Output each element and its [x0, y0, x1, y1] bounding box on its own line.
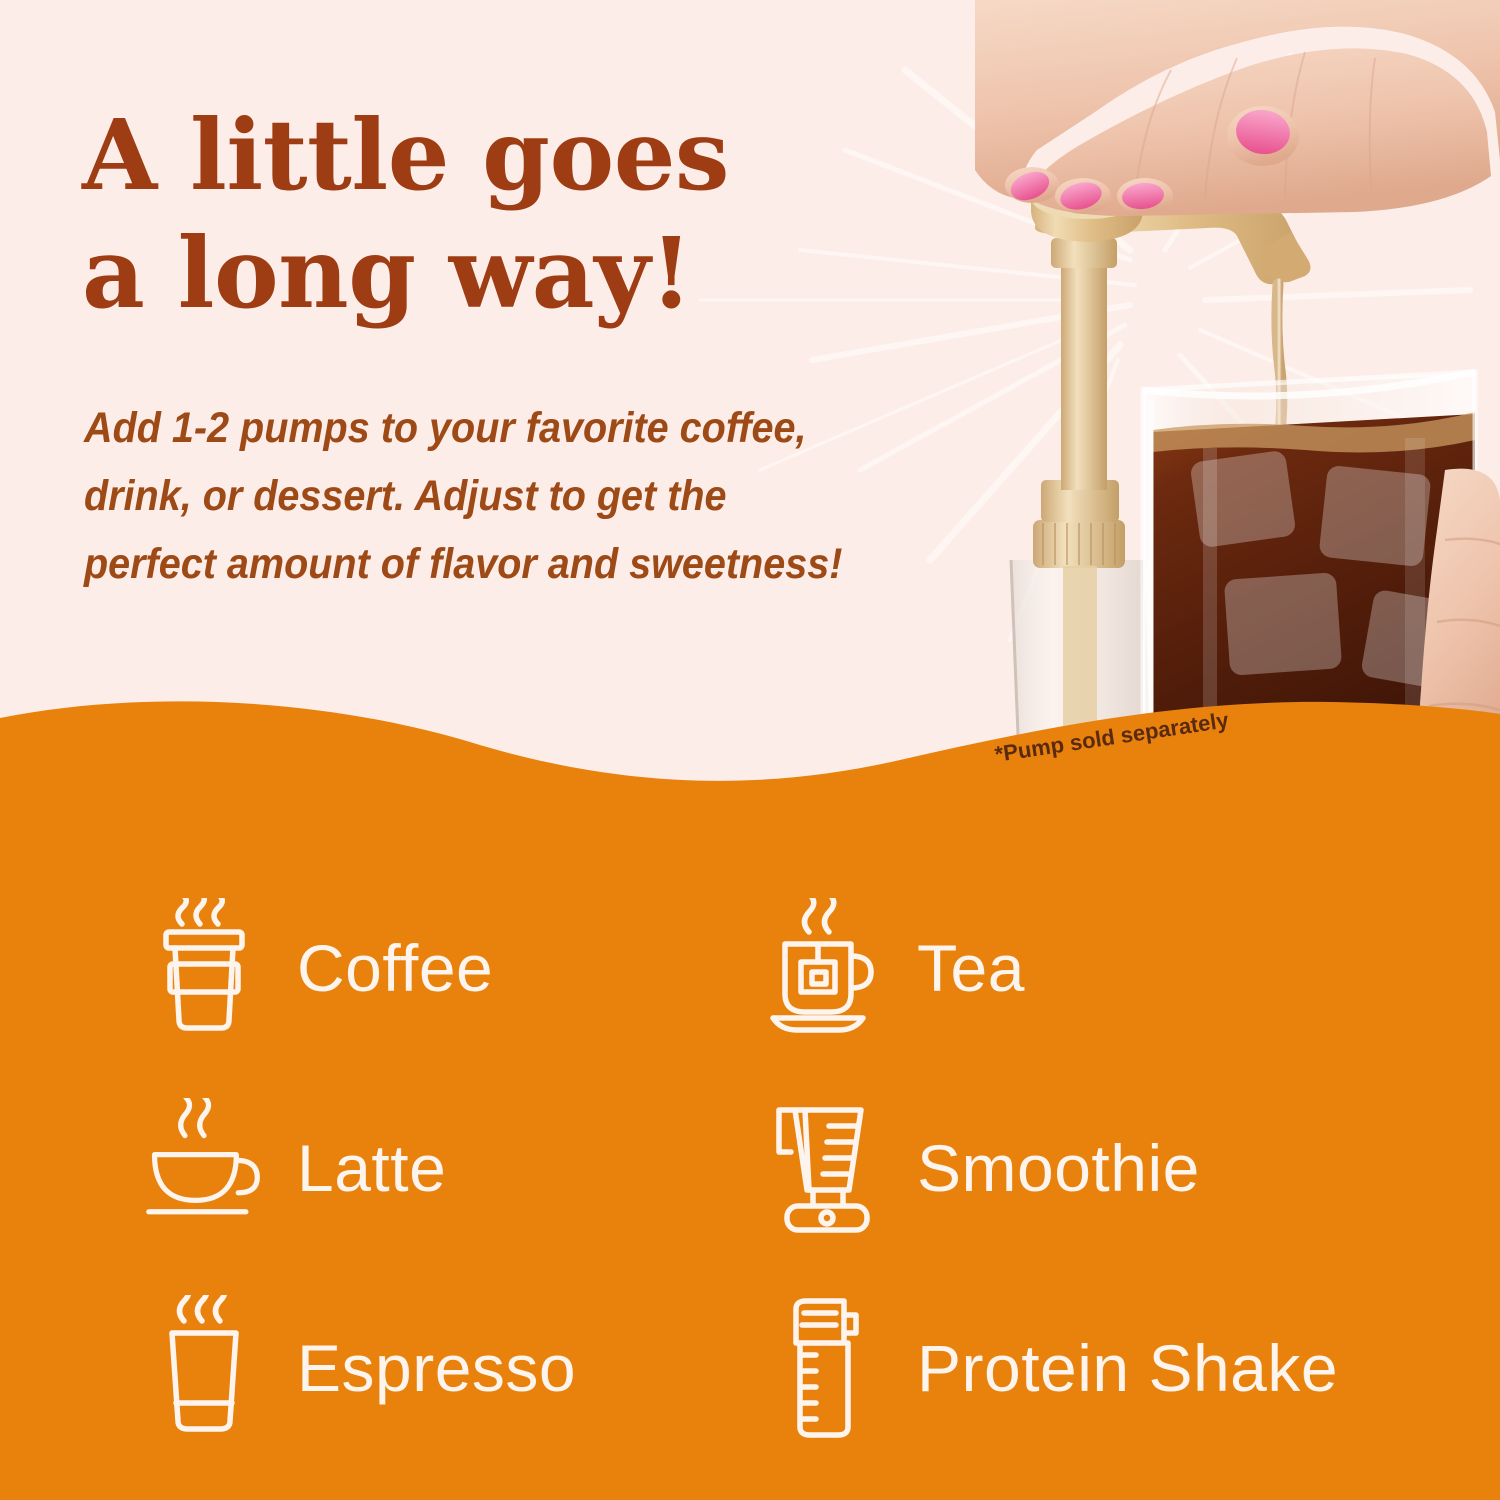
use-case-label: Espresso [297, 1330, 576, 1406]
use-case-coffee: Coffee [145, 868, 765, 1068]
use-case-smoothie: Smoothie [765, 1068, 1445, 1268]
blender-icon [765, 1098, 883, 1238]
use-case-label: Tea [917, 930, 1025, 1006]
shaker-bottle-icon [765, 1293, 883, 1443]
use-case-label: Coffee [297, 930, 493, 1006]
use-case-label: Smoothie [917, 1130, 1200, 1206]
to-go-coffee-cup-icon [145, 898, 263, 1038]
use-cases-grid: Coffee Tea [0, 868, 1500, 1468]
use-case-tea: Tea [765, 868, 1445, 1068]
use-case-label: Latte [297, 1130, 446, 1206]
use-case-label: Protein Shake [917, 1330, 1338, 1406]
product-infographic: A little goes a long way! Add 1-2 pumps … [0, 0, 1500, 1500]
use-case-latte: Latte [145, 1068, 765, 1268]
latte-cup-saucer-icon [145, 1098, 263, 1238]
tea-cup-saucer-icon [765, 898, 883, 1038]
use-case-espresso: Espresso [145, 1268, 765, 1468]
espresso-glass-icon [145, 1295, 263, 1441]
use-case-protein-shake: Protein Shake [765, 1268, 1445, 1468]
